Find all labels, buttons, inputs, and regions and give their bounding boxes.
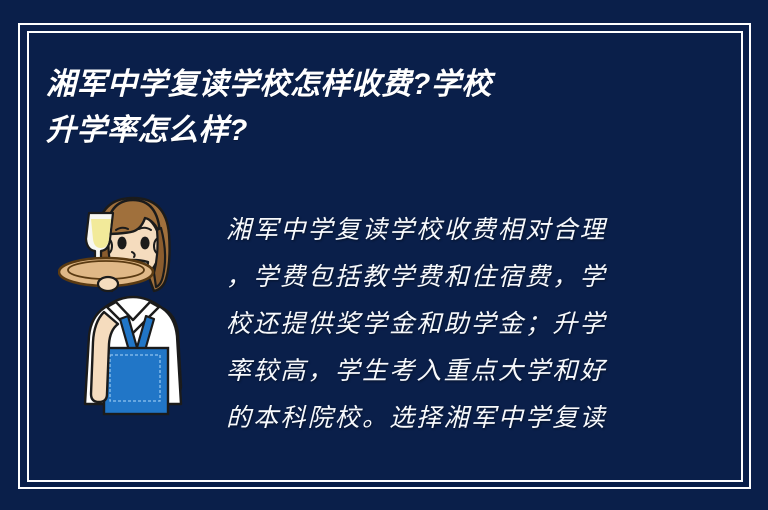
body-line-2: ，学费包括教学费和住宿费，学 — [226, 253, 666, 300]
body-paragraph: 湘军中学复读学校收费相对合理 ，学费包括教学费和住宿费，学 校还提供奖学金和助学… — [226, 206, 666, 441]
hand-icon — [98, 277, 118, 291]
body-line-5: 的本科院校。选择湘军中学复读 — [226, 394, 666, 441]
poster-canvas: 湘军中学复读学校怎样收费?学校 升学率怎么样? — [0, 0, 768, 510]
eye-left-icon — [117, 237, 126, 250]
waitress-illustration — [58, 188, 208, 424]
title-line-1: 湘军中学复读学校怎样收费?学校 — [46, 62, 686, 108]
body-line-1: 湘军中学复读学校收费相对合理 — [226, 206, 666, 253]
body-line-4: 率较高，学生考入重点大学和好 — [226, 347, 666, 394]
title-line-2: 升学率怎么样? — [46, 108, 686, 154]
eye-right-icon — [140, 237, 149, 250]
apron-icon — [104, 348, 168, 414]
body-line-3: 校还提供奖学金和助学金；升学 — [226, 300, 666, 347]
page-title: 湘军中学复读学校怎样收费?学校 升学率怎么样? — [46, 62, 686, 154]
